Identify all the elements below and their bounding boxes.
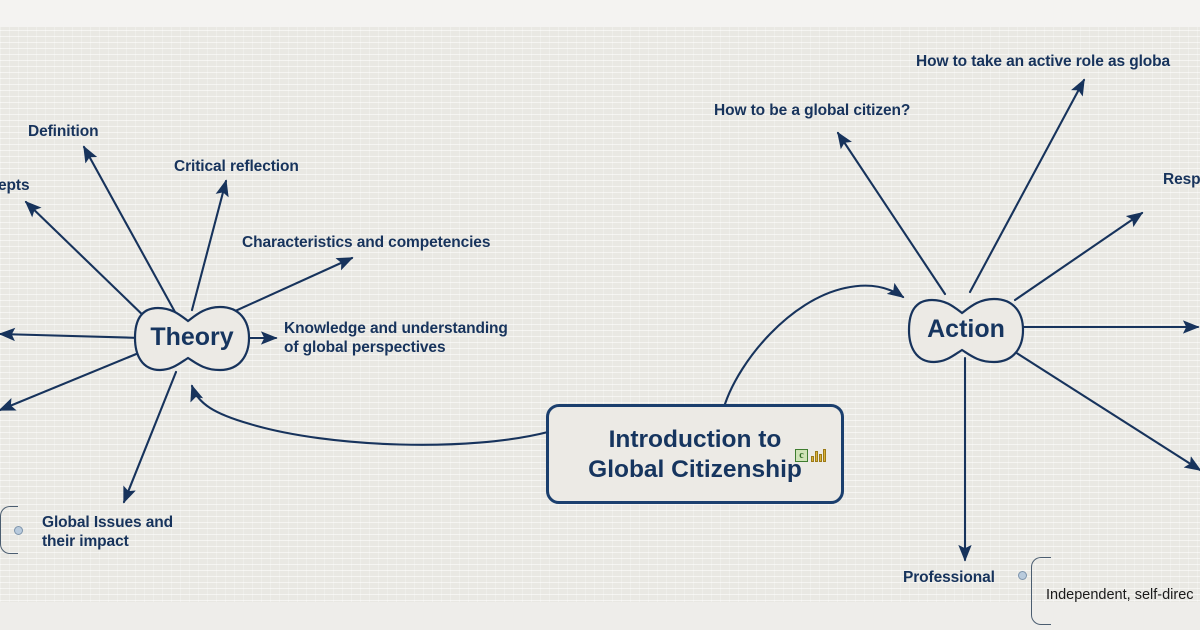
branch-node-theory[interactable]: Theory	[132, 300, 252, 376]
global-issues-list-dot[interactable]	[14, 526, 23, 535]
theory-label: Theory	[132, 323, 252, 351]
label-professional[interactable]: Professional	[903, 568, 995, 587]
edge-action-active-role	[970, 80, 1084, 292]
mind-map-canvas: Theory Action Introduction to Global Cit…	[0, 0, 1200, 630]
edge-root-to-theory	[192, 386, 548, 445]
professional-list-items: Independent, self-direc Lifelong learnin…	[1038, 530, 1200, 630]
professional-list-dot[interactable]	[1018, 571, 1027, 580]
edge-root-to-action	[725, 286, 903, 404]
edge-theory-spoke-left-lower	[0, 350, 146, 410]
edge-theory-critical-reflection	[192, 181, 226, 310]
edge-action-how-to-be-global-citizen	[838, 133, 945, 294]
root-node-icons: c	[795, 449, 826, 462]
edge-theory-definition	[84, 147, 175, 312]
label-critical-reflection[interactable]: Critical reflection	[174, 157, 299, 176]
label-concepts[interactable]: epts	[0, 176, 29, 195]
edge-action-lower-right	[1015, 352, 1200, 470]
edge-action-upper-right	[1015, 213, 1142, 300]
label-how-to-be-global-citizen[interactable]: How to be a global citizen?	[714, 101, 910, 120]
global-issues-list-items: al al	[0, 502, 4, 630]
label-responsibility[interactable]: Resp	[1163, 170, 1200, 189]
leaf-item[interactable]: Independent, self-direc	[1038, 582, 1200, 608]
label-active-role[interactable]: How to take an active role as globa	[916, 52, 1170, 71]
label-global-issues[interactable]: Global Issues and their impact	[42, 513, 173, 551]
bar-chart-icon	[811, 449, 826, 462]
leaf-item[interactable]: al	[0, 554, 4, 580]
action-label: Action	[906, 315, 1026, 343]
edge-theory-spoke-left-mid	[0, 334, 142, 338]
label-characteristics-competencies[interactable]: Characteristics and competencies	[242, 233, 490, 252]
branch-node-action[interactable]: Action	[906, 292, 1026, 368]
label-knowledge-understanding[interactable]: Knowledge and understanding of global pe…	[284, 319, 508, 357]
copyright-c-icon: c	[795, 449, 808, 462]
edge-theory-global-issues	[124, 372, 176, 502]
root-node[interactable]: Introduction to Global Citizenship c	[546, 404, 844, 504]
label-definition[interactable]: Definition	[28, 122, 98, 141]
